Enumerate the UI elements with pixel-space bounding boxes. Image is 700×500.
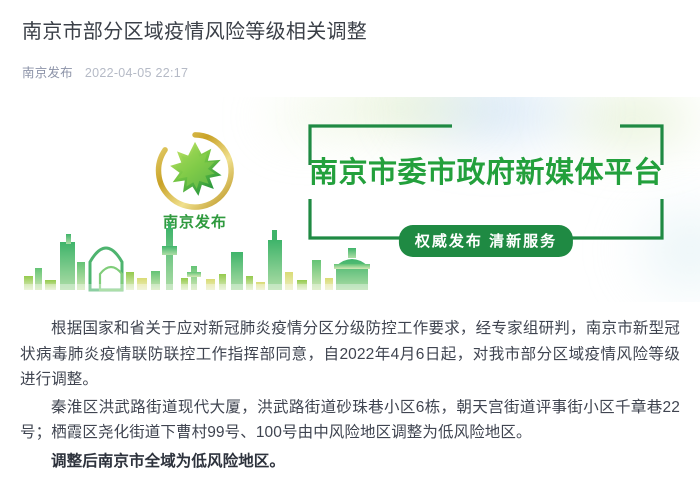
nanjing-release-logo: 南京发布 [136,129,254,232]
body-paragraph: 根据国家和省关于应对新冠肺炎疫情分区分级防控工作要求，经专家组研判，南京市新型冠… [20,316,680,393]
article-body: 根据国家和省关于应对新冠肺炎疫情分区分级防控工作要求，经专家组研判，南京市新型冠… [0,316,700,476]
article-header: 南京市部分区域疫情风险等级相关调整 南京发布 2022-04-05 22:17 [0,0,700,81]
article-source: 南京发布 [22,62,73,81]
article-meta: 南京发布 2022-04-05 22:17 [22,62,678,81]
banner-image: 南京发布 南京市委市政府新媒体平台 权威发布 清新服务 [0,97,700,302]
article-datetime: 2022-04-05 22:17 [85,66,189,80]
city-skyline-watercolor-icon [18,222,373,294]
body-conclusion: 调整后南京市全域为低风险地区。 [20,449,680,475]
body-paragraph: 秦淮区洪武路街道现代大厦，洪武路街道砂珠巷小区6栋，朝天宫街道评事街小区千章巷2… [20,395,680,446]
slogan-badge: 权威发布 清新服务 [399,225,573,257]
page-title: 南京市部分区域疫情风险等级相关调整 [22,18,678,46]
maple-leaf-emblem-icon [153,129,237,213]
platform-title: 南京市委市政府新媒体平台 [302,155,670,191]
